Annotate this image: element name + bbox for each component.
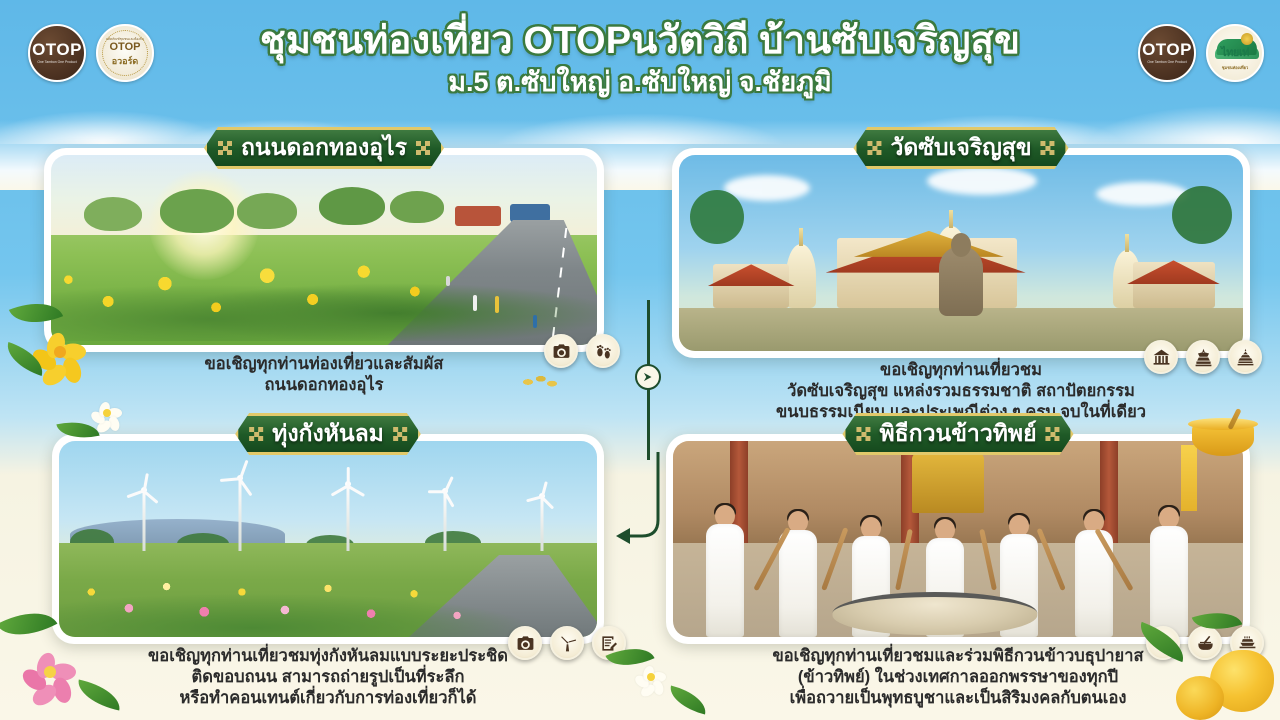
- otop-logo-text: OTOP: [32, 41, 82, 58]
- connector-arrow-left[interactable]: [612, 452, 672, 552]
- otop-logo-right-text: OTOP: [1142, 41, 1192, 58]
- road-tree-1: [84, 197, 142, 231]
- caption-ceremony-line-2: (ข้าวทิพย์) ในช่วงเทศกาลออกพรรษาของทุกปี: [666, 667, 1250, 688]
- thai-logo-subtext: ชุมชนท่องเที่ยว: [1208, 64, 1262, 71]
- turbine-blade: [347, 467, 350, 486]
- pavilion-icon[interactable]: [1144, 340, 1178, 374]
- banner-ornament-right-icon: [1041, 141, 1055, 155]
- buddha-statue-head: [951, 233, 971, 257]
- road-walker-1: [473, 295, 477, 311]
- otop-logo: OTOP One Tambon One Product: [28, 24, 86, 82]
- notepad-pen-icon[interactable]: [592, 626, 626, 660]
- banner-ornament-right-icon: [393, 427, 407, 441]
- turbine-blade: [428, 491, 445, 494]
- ceremony-participant-2: [776, 511, 820, 637]
- otop-logo-right: OTOP One Tambon One Product: [1138, 24, 1196, 82]
- otop-award-caption: ผลิตภัณฑ์ชุมชนและท้องถิ่น: [106, 38, 144, 42]
- wind-turbine-2: [220, 459, 260, 551]
- banner-windmill-label: ทุ่งกังหันลม: [272, 416, 384, 452]
- turbine-blade: [220, 478, 240, 482]
- temple-photo-frame: [672, 148, 1250, 358]
- connector-arrow-right[interactable]: [635, 364, 661, 390]
- offering-tray-icon[interactable]: [1230, 626, 1264, 660]
- thai-tourism-logo: ไทยเท่ ชุมชนท่องเที่ยว: [1206, 24, 1264, 82]
- frangipani-decoration-2: [636, 662, 666, 692]
- banner-road-flower-label: ถนนดอกทองอุไร: [241, 130, 407, 166]
- otop-award-logo: ผลิตภัณฑ์ชุมชนและท้องถิ่น OTOP อวอร์ด: [96, 24, 154, 82]
- caption-road-flower: ขอเชิญทุกท่านท่องเที่ยวและสัมผัส ถนนดอกท…: [44, 354, 604, 396]
- temple-roof-icon[interactable]: [1186, 340, 1220, 374]
- temple-cloud-2: [927, 167, 1037, 195]
- caption-temple-line-2: วัดซับเจริญสุข แหล่งรวมธรรมชาติ สถาปัตยก…: [672, 381, 1250, 402]
- ceremony-photo-frame: [666, 434, 1250, 644]
- turbine-mast: [142, 489, 145, 551]
- caption-windmill-line-2: ติดขอบถนน สามารถถ่ายรูปเป็นที่ระลึก: [52, 667, 604, 688]
- ceremony-participant-1: [702, 505, 748, 637]
- mortar-pestle-icon[interactable]: [1188, 626, 1222, 660]
- windmill-photo: [59, 441, 597, 637]
- frangipani-center: [647, 673, 655, 681]
- road-village-house: [455, 206, 501, 226]
- frangipani-petal: [641, 665, 655, 682]
- windmill-wildflowers: [59, 547, 597, 637]
- banner-ornament-left-icon: [856, 427, 870, 441]
- page-header: OTOP One Tambon One Product ผลิตภัณฑ์ชุม…: [0, 0, 1280, 122]
- windmill-icon-row: [508, 626, 626, 660]
- ceremony-yellow-flag: [1181, 445, 1197, 511]
- banner-windmill: ทุ่งกังหันลม: [235, 413, 421, 455]
- road-tree-3: [237, 193, 297, 229]
- banner-temple: วัดซับเจริญสุข: [853, 127, 1068, 169]
- road-tree-5: [390, 191, 444, 223]
- panel-rice-ceremony[interactable]: พิธีกวนข้าวทิพย์ ขอเชิญทุกท่านเที่ยวชมแล…: [666, 434, 1250, 644]
- turbine-blade: [239, 460, 248, 480]
- frangipani-petal: [107, 415, 121, 432]
- connector-temple-to-windmill: [612, 452, 672, 552]
- road-tree-2: [160, 189, 234, 233]
- turbine-blade: [347, 485, 365, 497]
- leaf-decoration-bottom-left: [0, 599, 57, 649]
- wind-turbine-1: [124, 473, 164, 551]
- banner-ornament-left-icon: [867, 141, 881, 155]
- temple-photo: [679, 155, 1243, 351]
- header-logos-left: OTOP One Tambon One Product ผลิตภัณฑ์ชุม…: [28, 24, 154, 82]
- title-line-1: ชุมชนท่องเที่ยว OTOPนวัตวิถี บ้านซับเจริ…: [0, 22, 1280, 62]
- ceremony-shrine: [912, 453, 984, 513]
- road-icon-row: [544, 334, 620, 368]
- thai-logo-text: ไทยเท่: [1221, 43, 1249, 61]
- temple-icon-row: [1144, 340, 1262, 374]
- panel-temple[interactable]: วัดซับเจริญสุข ขอเชิญทุกท่านเที่ยวชม วัด…: [672, 148, 1250, 358]
- wind-turbine-icon[interactable]: [550, 626, 584, 660]
- header-logos-right: OTOP One Tambon One Product ไทยเท่ ชุมชน…: [1138, 24, 1264, 82]
- ceremony-icon-row: [1146, 626, 1264, 660]
- otop-logo-right-subtext: One Tambon One Product: [1147, 60, 1186, 64]
- camera-icon[interactable]: [544, 334, 578, 368]
- frangipani-petal: [107, 408, 122, 418]
- banner-ornament-right-icon: [1046, 427, 1060, 441]
- panel-windmill[interactable]: ทุ่งกังหันลม ขอเชิญทุกท่านเที่ยวชมทุ่งกั…: [52, 434, 604, 644]
- caption-windmill-line-3: หรือทำคอนเทนต์เกี่ยวกับการท่องเที่ยวก็ได…: [52, 688, 604, 709]
- wind-turbine-5: [522, 481, 562, 551]
- frangipani-petal: [651, 679, 665, 696]
- panel-road-flower[interactable]: ถนนดอกทองอุไร ขอเชิญทุกท่านท่องเที่ยวและ…: [44, 148, 604, 352]
- road-walker-2: [495, 296, 499, 313]
- banner-ornament-right-icon: [416, 141, 430, 155]
- frangipani-petal: [639, 682, 657, 699]
- turbine-mast: [443, 491, 446, 551]
- caption-ceremony-line-3: เพื่อถวายเป็นพุทธบูชาและเป็นสิริมงคลกับต…: [666, 688, 1250, 709]
- turbine-blade: [540, 481, 547, 497]
- leaf-decoration-left-2: [2, 342, 49, 376]
- flower-petal: [19, 665, 50, 694]
- banner-temple-label: วัดซับเจริญสุข: [890, 130, 1031, 166]
- road-photo-frame: [44, 148, 604, 352]
- frangipani-petal: [89, 409, 107, 426]
- banner-ornament-left-icon: [218, 141, 232, 155]
- road-cyclist: [533, 315, 537, 328]
- turbine-mast: [239, 477, 242, 551]
- camera-icon[interactable]: [508, 626, 542, 660]
- road-tree-4: [319, 187, 385, 225]
- ceremony-participant-7: [1146, 507, 1192, 637]
- otop-award-subtext: อวอร์ด: [112, 54, 139, 68]
- banner-road-flower: ถนนดอกทองอุไร: [204, 127, 444, 169]
- frangipani-petal: [95, 418, 113, 435]
- temple-palm-right: [1172, 186, 1232, 244]
- turbine-blade: [142, 473, 148, 491]
- pagoda-icon[interactable]: [1228, 340, 1262, 374]
- footprints-icon[interactable]: [586, 334, 620, 368]
- banner-rice-ceremony-label: พิธีกวนข้าวทิพย์: [879, 416, 1036, 452]
- caption-road-line-1: ขอเชิญทุกท่านท่องเที่ยวและสัมผัส: [44, 354, 604, 375]
- road-photo: [51, 155, 597, 345]
- connector-road-to-temple: [634, 300, 664, 460]
- road-yellow-flowers: [51, 242, 597, 341]
- frangipani-petal: [651, 672, 666, 682]
- ceremony-large-bowl: [833, 592, 1038, 635]
- title-line-2: ม.5 ต.ซับใหญ่ อ.ซับใหญ่ จ.ชัยภูมิ: [0, 68, 1280, 96]
- participant-body: [1150, 526, 1188, 637]
- participant-body: [779, 530, 817, 637]
- temple-cloud-1: [724, 175, 810, 201]
- banner-rice-ceremony: พิธีกวนข้าวทิพย์: [842, 413, 1073, 455]
- caption-road-line-2: ถนนดอกทองอุไร: [44, 375, 604, 396]
- frangipani-petal: [633, 673, 651, 690]
- participant-body: [706, 524, 744, 637]
- turbine-mast: [540, 496, 543, 551]
- wind-turbine-4: [425, 475, 465, 551]
- page-title: ชุมชนท่องเที่ยว OTOPนวัตวิถี บ้านซับเจริ…: [0, 22, 1280, 96]
- otop-award-text: OTOP: [110, 42, 141, 54]
- otop-logo-subtext: One Tambon One Product: [37, 60, 76, 64]
- ceremony-photo: [673, 441, 1243, 637]
- turbine-blade: [143, 490, 158, 503]
- temple-stupa-left: [786, 244, 816, 308]
- road-walker-3: [446, 276, 450, 286]
- frangipani-center: [103, 409, 111, 417]
- turbine-mast: [347, 483, 350, 551]
- frangipani-decoration-1: [92, 398, 122, 428]
- wind-turbine-3: [328, 467, 368, 551]
- pot-icon[interactable]: [1146, 626, 1180, 660]
- frangipani-petal: [97, 401, 111, 418]
- turbine-blade: [444, 476, 453, 492]
- banner-ornament-left-icon: [249, 427, 263, 441]
- windmill-photo-frame: [52, 434, 604, 644]
